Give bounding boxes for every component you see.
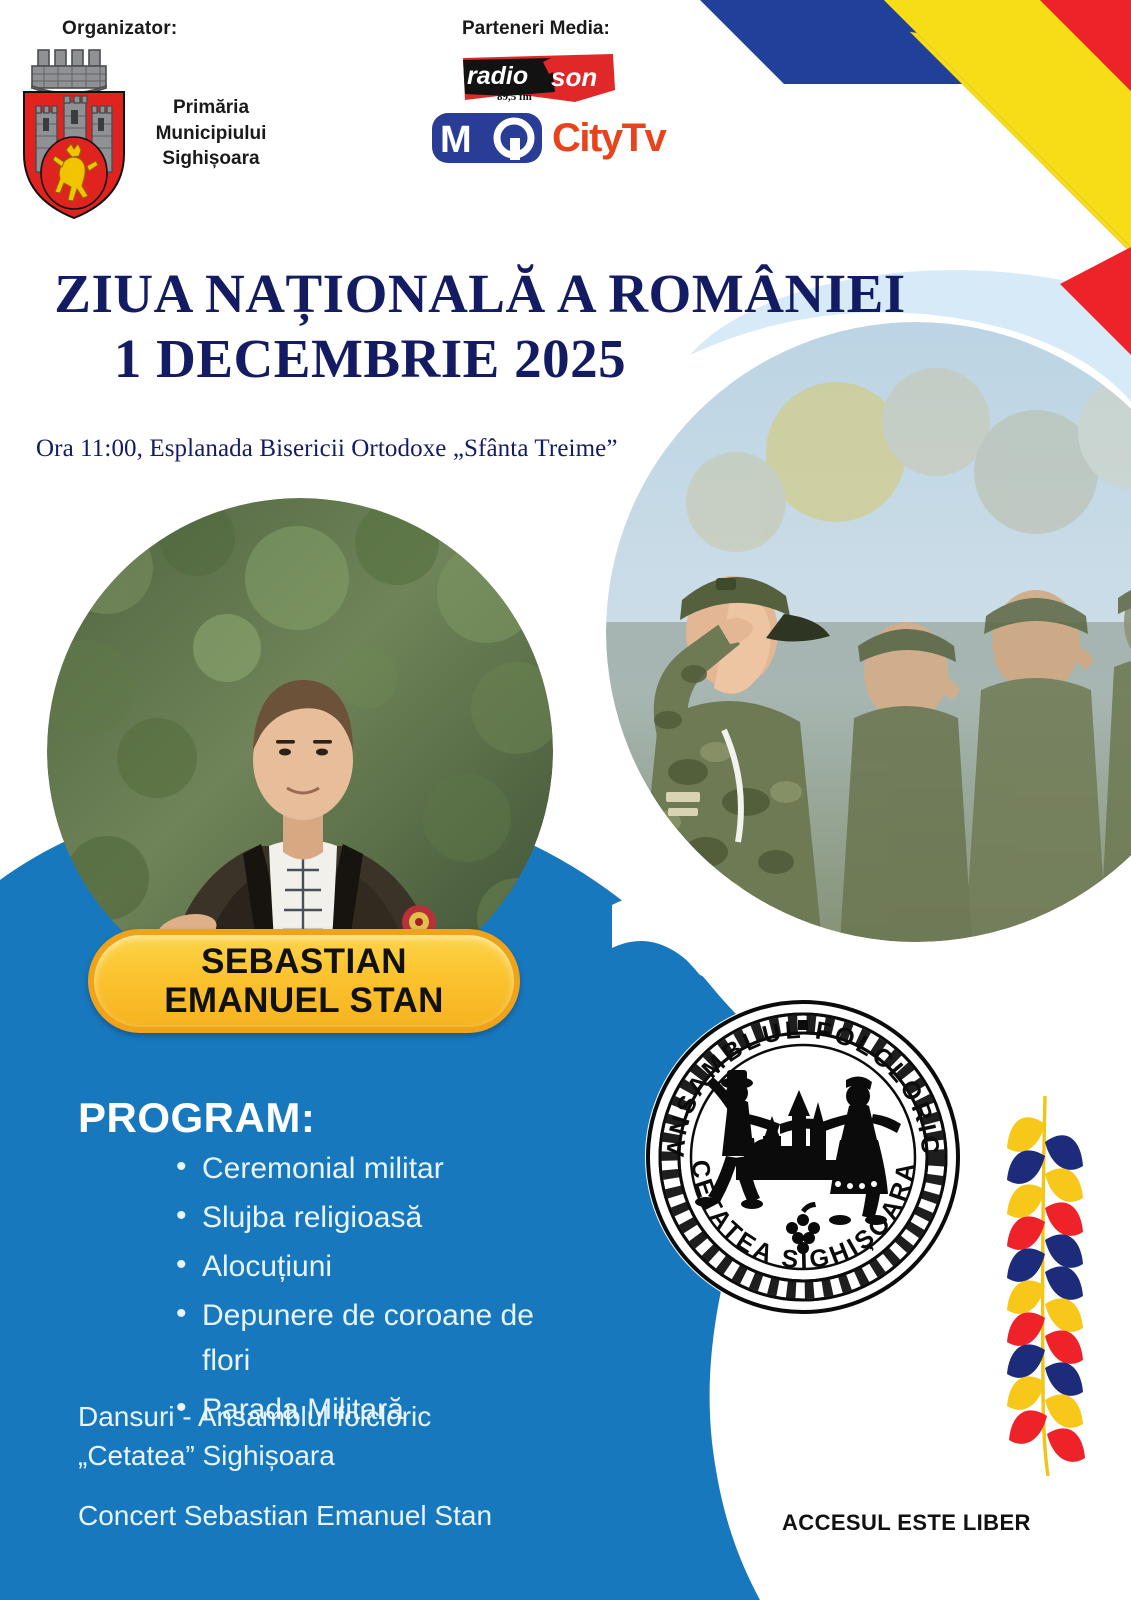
ansamblul-folcloric-seal: ANSAMBLUL FOLCLORIC CETATEA SIGHIȘOARA xyxy=(644,998,962,1316)
radio-son-logo: radio son 89,5 fm xyxy=(455,50,620,107)
organizer-label: Organizator: xyxy=(62,18,177,40)
organizer-name-line-1: Primăria xyxy=(146,95,276,121)
citytv-logo: CityTv xyxy=(552,113,668,161)
wheat-tricolor-motif xyxy=(985,1096,1105,1476)
artist-name-line-2: EMANUEL STAN xyxy=(164,981,444,1020)
artist-name-badge: SEBASTIAN EMANUEL STAN xyxy=(88,929,520,1033)
program-list: Ceremonial militar Slujba religioasă Alo… xyxy=(172,1146,572,1436)
poster-canvas: Organizator: xyxy=(0,0,1131,1600)
dance-line-1: Dansuri - Ansamblul folcloric xyxy=(78,1398,598,1437)
partners-label: Parteneri Media: xyxy=(462,18,610,40)
page-title-line-1: ZIUA NAȚIONALĂ A ROMÂNIEI xyxy=(0,262,960,327)
organizer-name-line-2: Municipiului xyxy=(146,121,276,147)
dance-ensemble-text: Dansuri - Ansamblul folcloric „Cetatea” … xyxy=(78,1398,598,1475)
program-heading: PROGRAM: xyxy=(78,1094,315,1142)
organizer-name: Primăria Municipiului Sighișoara xyxy=(146,95,276,172)
page-title-line-2: 1 DECEMBRIE 2025 xyxy=(0,327,740,392)
list-item: Slujba religioasă xyxy=(172,1195,572,1240)
svg-text:CityTv: CityTv xyxy=(552,116,668,160)
event-subtitle: Ora 11:00, Esplanada Bisericii Ortodoxe … xyxy=(36,435,618,463)
poster-header: Organizator: xyxy=(0,0,1131,230)
list-item: Alocuțiuni xyxy=(172,1244,572,1289)
dance-line-2: „Cetatea” Sighișoara xyxy=(78,1437,598,1476)
artist-name-line-1: SEBASTIAN xyxy=(201,942,407,981)
coat-of-arms-icon xyxy=(14,40,134,220)
svg-text:M: M xyxy=(440,119,472,161)
free-access-text: ACCESUL ESTE LIBER xyxy=(782,1510,1031,1536)
concert-text: Concert Sebastian Emanuel Stan xyxy=(78,1500,492,1532)
svg-text:radio: radio xyxy=(467,62,528,90)
list-item: Depunere de coroane de flori xyxy=(172,1293,572,1383)
svg-text:89,5 fm: 89,5 fm xyxy=(497,91,532,103)
list-item: Ceremonial militar xyxy=(172,1146,572,1191)
organizer-name-line-3: Sighișoara xyxy=(146,146,276,172)
m9-logo: M xyxy=(432,113,542,163)
